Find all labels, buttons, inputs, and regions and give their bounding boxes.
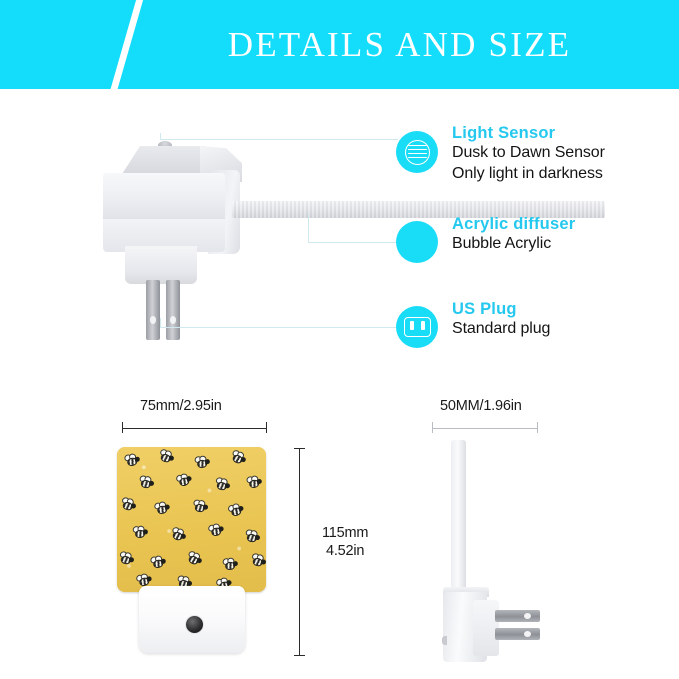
bee-motif [190, 500, 208, 514]
feature-detail-line: Only light in darkness [452, 164, 605, 185]
front-height-label-in: 4.52in [322, 542, 368, 560]
dimension-tick [122, 422, 123, 433]
light-sensor-icon [396, 131, 438, 173]
feature-detail-line: Dusk to Dawn Sensor [452, 143, 605, 164]
leader-elbow-vertical-diffuser [308, 213, 309, 243]
plug-prong-left [146, 280, 160, 340]
night-light-front-view [117, 447, 266, 653]
bee-motif [136, 476, 155, 490]
feature-detail-line: Standard plug [452, 319, 550, 340]
side-button [442, 636, 447, 645]
leader-line-light-sensor [160, 139, 398, 140]
night-light-base [139, 586, 245, 653]
front-height-dimension-line [299, 448, 300, 656]
bee-motif [130, 526, 148, 540]
bee-motif [220, 558, 239, 572]
side-depth-dimension-line [432, 428, 538, 429]
prong-hole [524, 613, 531, 619]
prong-hole [524, 631, 531, 637]
front-width-label: 75mm/2.95in [140, 398, 222, 414]
front-height-label: 115mm 4.52in [322, 524, 368, 560]
night-light-side-view [443, 440, 563, 662]
leader-line-diffuser [308, 242, 398, 243]
housing-base [125, 246, 197, 284]
us-plug-icon [396, 306, 438, 348]
page-title: DETAILS AND SIZE [0, 0, 679, 89]
prong-hole [150, 316, 156, 324]
feature-title-us-plug: US Plug [452, 300, 550, 319]
side-depth-label: 50MM/1.96in [440, 398, 522, 414]
dimension-tick [266, 422, 267, 433]
plug-prong-bottom [495, 628, 540, 640]
dimension-tick [294, 448, 305, 449]
leader-tick-light-sensor [160, 133, 161, 140]
side-panel-edge [451, 440, 466, 598]
feature-title-light-sensor: Light Sensor [452, 124, 605, 143]
leader-line-us-plug [160, 327, 398, 328]
bee-pattern-panel [117, 447, 266, 592]
outlet-glyph [404, 317, 431, 337]
front-height-label-mm: 115mm [322, 524, 368, 542]
product-detail-page: DETAILS AND SIZE Light Sensor Dusk to Da… [0, 0, 679, 679]
feature-detail-line: Bubble Acrylic [452, 234, 575, 255]
front-width-dimension-line [122, 428, 267, 429]
feature-us-plug: US Plug Standard plug [452, 300, 550, 340]
plug-perspective-photo [96, 140, 248, 330]
bee-motif [192, 456, 211, 470]
plug-prong-top [495, 610, 540, 622]
feature-light-sensor: Light Sensor Dusk to Dawn Sensor Only li… [452, 124, 605, 185]
sensor-glyph [405, 140, 430, 165]
dimension-tick [432, 422, 433, 433]
dimension-tick [537, 422, 538, 433]
pattern-background [117, 447, 266, 592]
dimension-tick [294, 655, 305, 656]
housing-face-upper [103, 173, 225, 221]
plug-prong-right [166, 280, 180, 340]
leader-tick-us-plug [160, 318, 161, 328]
feature-title-acrylic-diffuser: Acrylic diffuser [452, 215, 575, 234]
sensor-lens [185, 615, 204, 634]
feature-acrylic-diffuser: Acrylic diffuser Bubble Acrylic [452, 215, 575, 255]
prong-hole [170, 316, 176, 324]
acrylic-diffuser-icon [396, 221, 438, 263]
header-banner: DETAILS AND SIZE [0, 0, 679, 89]
